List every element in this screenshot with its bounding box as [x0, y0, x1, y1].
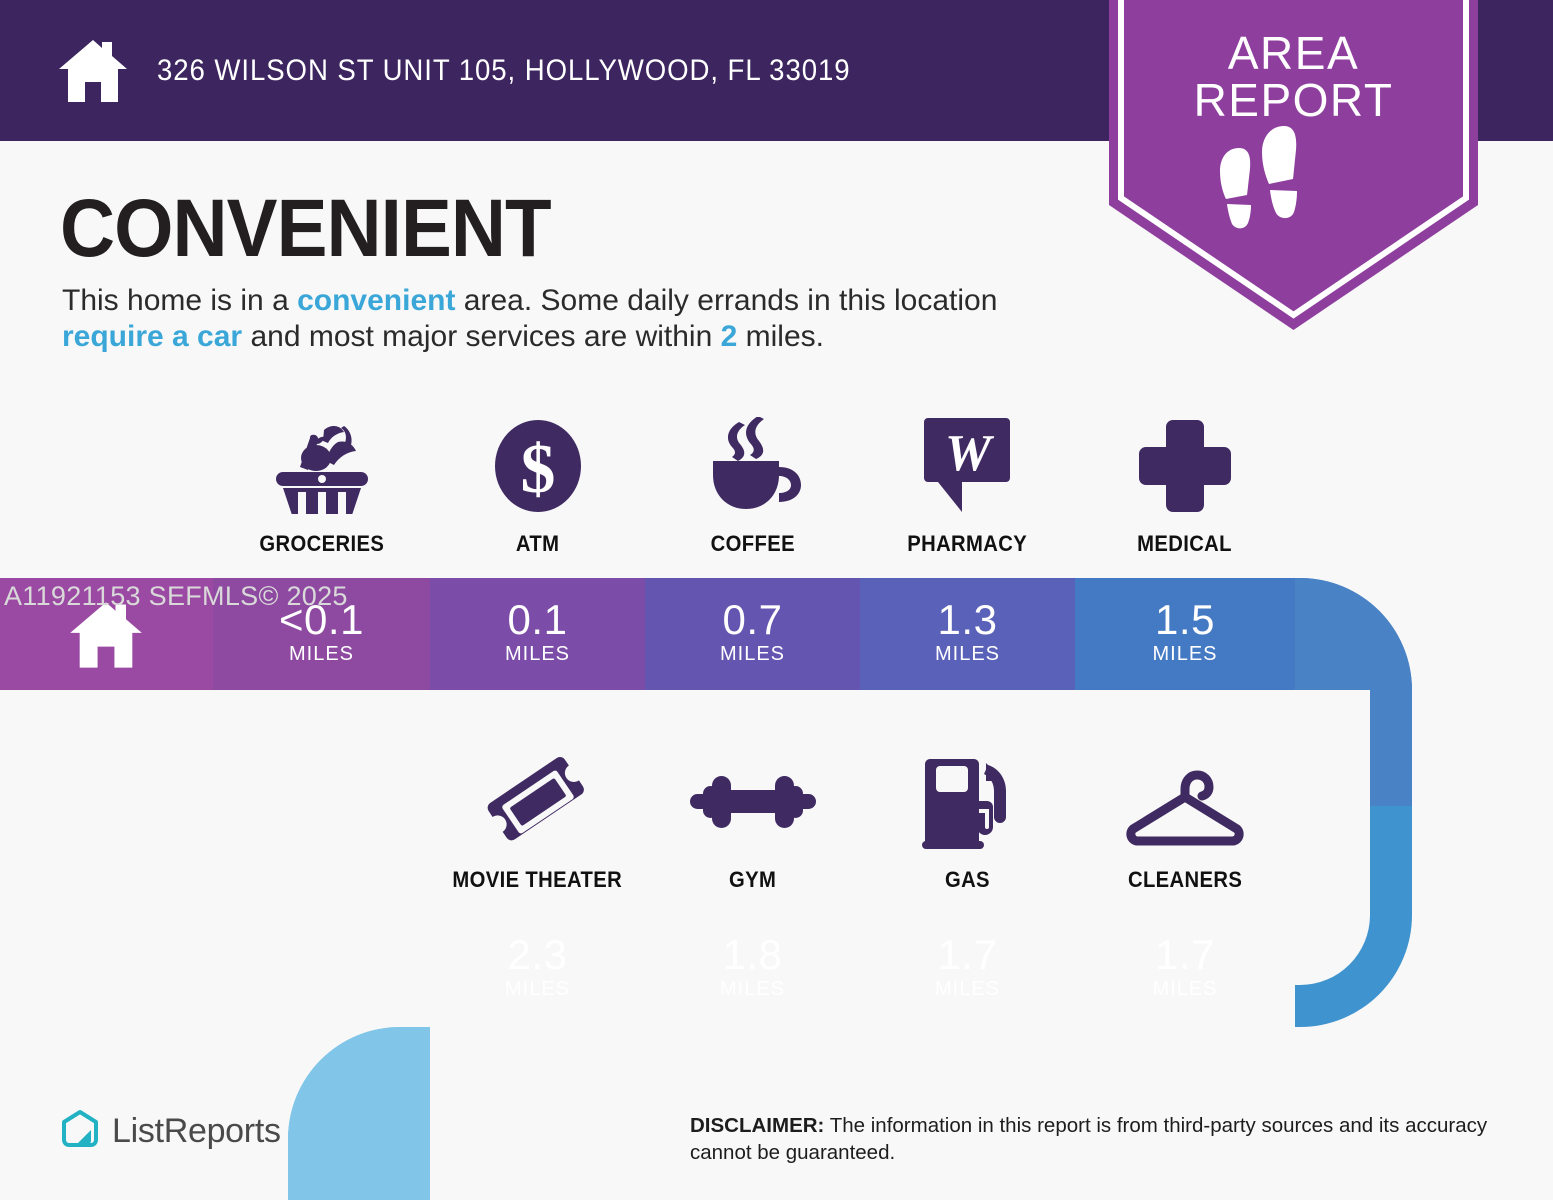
category-groceries: GROCERIES	[213, 416, 430, 557]
category-medical: MEDICAL	[1075, 416, 1295, 557]
listreports-logo-text: ListReports	[112, 1112, 281, 1151]
category-label: COFFEE	[710, 531, 794, 557]
category-atm: $ ATM	[430, 416, 645, 557]
icon-row-1: GROCERIES $ ATM	[0, 416, 1553, 557]
mls-watermark: A11921153 SEFMLS© 2025	[4, 581, 348, 612]
category-label: GROCERIES	[259, 531, 384, 557]
pharmacy-w-icon: W	[922, 416, 1014, 516]
area-report-page: 326 WILSON ST UNIT 105, HOLLYWOOD, FL 33…	[0, 0, 1553, 1200]
category-label: ATM	[516, 531, 559, 557]
category-label: MEDICAL	[1138, 531, 1233, 557]
category-gas: GAS	[860, 752, 1075, 893]
category-coffee: COFFEE	[645, 416, 860, 557]
gas-pump-icon	[918, 752, 1018, 852]
area-report-badge: AREA REPORT	[1109, 0, 1478, 330]
category-movie-theater: MOVIE THEATER	[430, 752, 645, 893]
svg-text:$: $	[520, 431, 555, 508]
disclaimer-label: DISCLAIMER:	[690, 1114, 824, 1137]
disclaimer: DISCLAIMER: The information in this repo…	[690, 1112, 1500, 1166]
category-label: PHARMACY	[908, 531, 1028, 557]
listreports-house-icon	[60, 1108, 100, 1155]
category-label: CLEANERS	[1128, 867, 1242, 893]
category-pharmacy: W PHARMACY	[860, 416, 1075, 557]
category-gym: GYM	[645, 752, 860, 893]
clothes-hanger-icon	[1121, 752, 1249, 852]
coffee-cup-icon	[701, 416, 805, 516]
medical-cross-icon	[1137, 416, 1233, 516]
grocery-basket-icon	[268, 416, 376, 516]
listreports-logo: ListReports	[60, 1108, 281, 1155]
category-label: GAS	[945, 867, 990, 893]
category-label: GYM	[729, 867, 776, 893]
category-label: MOVIE THEATER	[453, 867, 623, 893]
category-cleaners: CLEANERS	[1075, 752, 1295, 893]
movie-ticket-icon	[486, 752, 590, 852]
dollar-circle-icon: $	[488, 416, 588, 516]
icon-row-2: MOVIE THEATER GYM	[0, 752, 1553, 893]
svg-text:W: W	[944, 425, 994, 482]
dumbbell-icon	[690, 752, 816, 852]
